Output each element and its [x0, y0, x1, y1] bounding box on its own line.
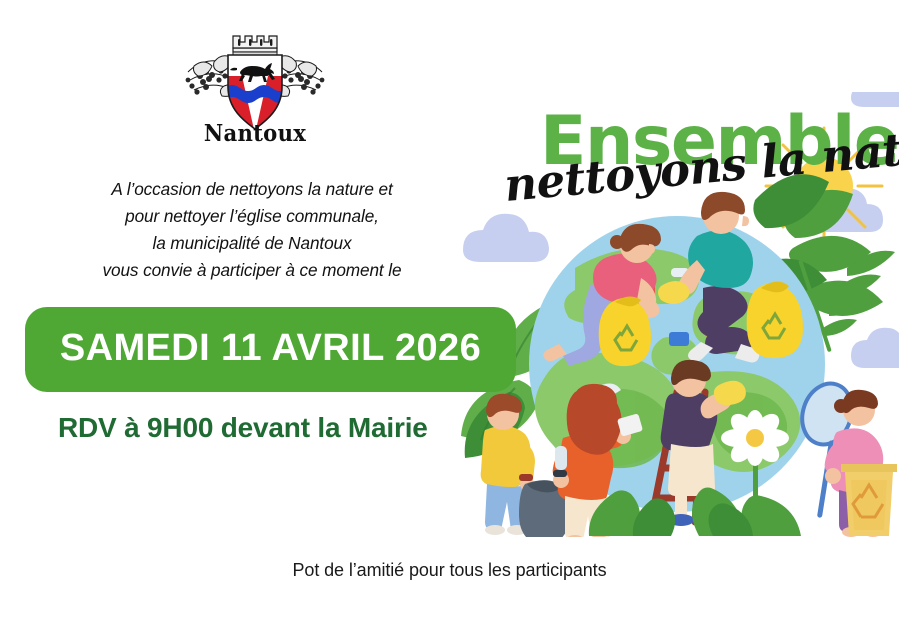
date-banner-text: SAMEDI 11 AVRIL 2026	[60, 327, 481, 370]
intro-line-4: vous convie à participer à ce moment le	[42, 257, 462, 284]
cleanup-illustration-icon	[455, 92, 899, 537]
coat-of-arms: Nantoux	[180, 14, 330, 156]
date-banner: SAMEDI 11 AVRIL 2026	[25, 307, 516, 392]
intro-line-1: A l’occasion de nettoyons la nature et	[42, 176, 462, 203]
intro-line-3: la municipalité de Nantoux	[42, 230, 462, 257]
crest-name: Nantoux	[186, 120, 324, 147]
intro-paragraph: A l’occasion de nettoyons la nature et p…	[42, 176, 462, 284]
intro-line-2: pour nettoyer l’église communale,	[42, 203, 462, 230]
footer-note: Pot de l’amitié pour tous les participan…	[0, 560, 899, 581]
meeting-point-text: RDV à 9H00 devant la Mairie	[58, 412, 428, 444]
poster-canvas: Nantoux A l’occasion de nettoyons la nat…	[0, 0, 899, 636]
illustration	[455, 92, 899, 537]
recycling-bin	[841, 464, 897, 536]
